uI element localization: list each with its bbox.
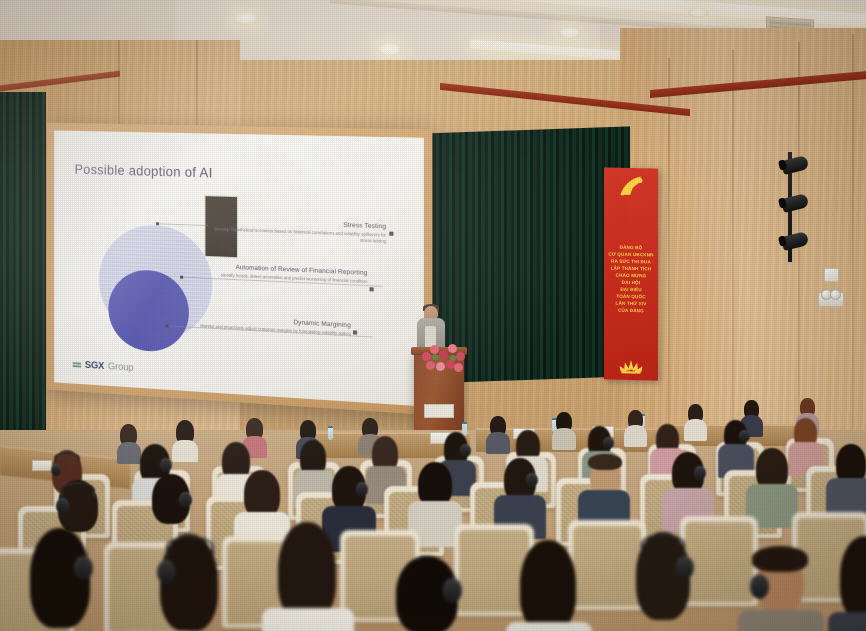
downlight-icon — [688, 8, 708, 18]
hammer-and-sickle-icon — [614, 173, 648, 200]
slide-title: Possible adoption of AI — [75, 162, 213, 180]
panel-seam — [668, 58, 670, 458]
callout-marker — [370, 287, 374, 291]
callout-marker — [389, 232, 393, 236]
headset-icon — [166, 536, 214, 558]
hair — [244, 470, 280, 518]
torso — [684, 419, 707, 441]
headset-earcup-icon — [74, 556, 93, 580]
leader-dot — [180, 276, 183, 279]
headset-earcup-icon — [356, 482, 368, 497]
headset-earcup-icon — [157, 560, 175, 584]
headset-earcup-icon — [443, 578, 462, 603]
stage-light-rig — [778, 152, 822, 262]
callout-dynamic-margining: Dynamic Margining Monitor and proactivel… — [175, 313, 351, 338]
name-card — [32, 460, 52, 471]
downlight-icon — [233, 12, 259, 25]
torso — [552, 428, 576, 450]
sgx-group-logo: SGX Group — [73, 359, 134, 374]
headset-icon — [641, 534, 685, 554]
headset-earcup-icon — [694, 466, 706, 480]
headset-earcup-icon — [160, 458, 172, 472]
torso — [506, 622, 592, 631]
hair — [520, 540, 576, 631]
sgx-logo-name: SGX — [85, 360, 104, 372]
headset-earcup-icon — [460, 444, 471, 457]
stage-spotlight-icon — [782, 158, 812, 173]
callout-marker — [353, 330, 357, 334]
stage-spotlight-icon — [782, 196, 812, 211]
torso — [624, 425, 647, 447]
torso — [738, 610, 824, 631]
sgx-bars-icon — [73, 362, 81, 367]
conference-hall-photo: Possible adoption of AI Stress Testing D… — [0, 0, 866, 631]
vertical-party-banner: ĐẢNG BỘ CƠ QUAN UBCKNN RA SỨC THI ĐUA LẬ… — [604, 167, 658, 380]
banner-line: CHÀO MỪNG — [616, 273, 647, 280]
projection-screen-frame: Possible adoption of AI Stress Testing D… — [47, 123, 433, 416]
headset-earcup-icon — [56, 498, 69, 514]
headset-earcup-icon — [739, 430, 750, 442]
wall-switch-plate[interactable] — [824, 268, 839, 282]
banner-line: ĐẢNG BỘ — [620, 245, 643, 252]
stage-curtain — [0, 92, 46, 452]
torso — [172, 440, 198, 462]
hair — [278, 522, 336, 622]
lotus-icon — [617, 358, 645, 377]
emergency-light-icon — [818, 292, 844, 307]
leader-dot — [166, 324, 169, 327]
downlight-icon — [558, 27, 581, 39]
torso — [117, 442, 141, 464]
headset-earcup-icon — [526, 473, 538, 487]
panel-seam — [852, 34, 854, 444]
chair — [568, 520, 646, 610]
panel-seam — [732, 50, 734, 460]
headset-earcup-icon — [51, 464, 61, 476]
torso — [486, 432, 510, 454]
headset-earcup-icon — [676, 556, 694, 579]
leader-dot — [156, 222, 159, 225]
hair — [588, 454, 622, 470]
sgx-logo-suffix: Group — [108, 361, 133, 373]
downlight-icon — [377, 43, 402, 56]
banner-line: CỦA ĐẢNG — [618, 308, 644, 315]
headset-earcup-icon — [603, 437, 614, 449]
torso — [828, 612, 866, 631]
banner-text-lines: ĐẢNG BỘ CƠ QUAN UBCKNN RA SỨC THI ĐUA LẬ… — [604, 201, 658, 358]
headset-icon — [61, 482, 95, 498]
flower-arrangement — [420, 340, 468, 374]
hair — [752, 546, 808, 572]
water-bottle — [328, 426, 333, 440]
torso — [262, 608, 354, 631]
stage-spotlight-icon — [782, 234, 812, 249]
presentation-slide: Possible adoption of AI Stress Testing D… — [54, 131, 424, 407]
podium-nameplate — [424, 404, 454, 418]
headset-earcup-icon — [750, 574, 769, 599]
headset-icon — [54, 452, 80, 464]
headset-earcup-icon — [179, 492, 192, 508]
